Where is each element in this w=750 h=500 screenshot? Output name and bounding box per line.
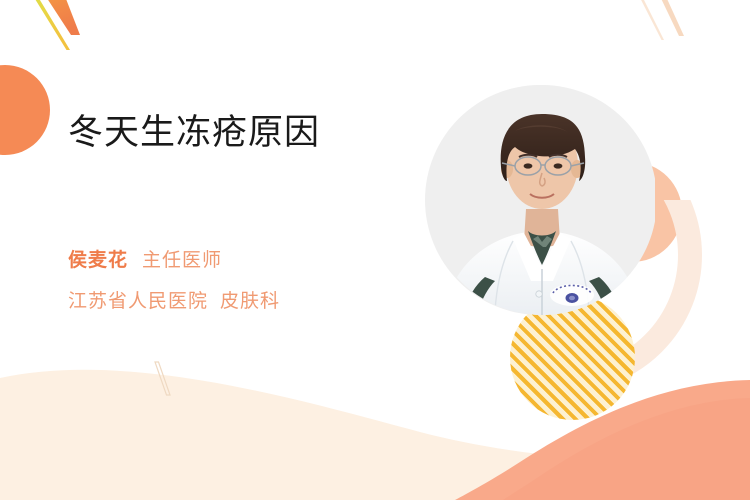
top-right-slash-a-icon bbox=[657, 0, 684, 36]
doctor-affiliation: 江苏省人民医院皮肤科 bbox=[68, 286, 280, 313]
bottom-left-tick-icon bbox=[155, 362, 170, 395]
doctor-topic-card: 冬天生冻疮原因 侯麦花主任医师 江苏省人民医院皮肤科 bbox=[0, 0, 750, 500]
text-block: 冬天生冻疮原因 侯麦花主任医师 江苏省人民医院皮肤科 bbox=[68, 112, 398, 154]
bottom-cream-wave-icon bbox=[0, 370, 750, 500]
doctor-portrait bbox=[429, 81, 655, 333]
page-title: 冬天生冻疮原因 bbox=[68, 112, 398, 154]
hospital-name: 江苏省人民医院 bbox=[68, 291, 208, 312]
doctor-photo-cluster bbox=[425, 85, 675, 375]
doctor-name: 侯麦花 bbox=[68, 250, 128, 271]
doctor-byline: 侯麦花主任医师 bbox=[68, 245, 222, 272]
top-right-slash-b-icon bbox=[636, 0, 664, 40]
top-left-thin-slash-icon bbox=[27, 0, 70, 50]
doctor-title: 主任医师 bbox=[142, 250, 222, 271]
hospital-badge-icon bbox=[550, 284, 594, 306]
left-orange-circle-icon bbox=[0, 65, 50, 155]
top-left-thick-slash-icon bbox=[39, 0, 80, 35]
department-name: 皮肤科 bbox=[220, 291, 280, 312]
